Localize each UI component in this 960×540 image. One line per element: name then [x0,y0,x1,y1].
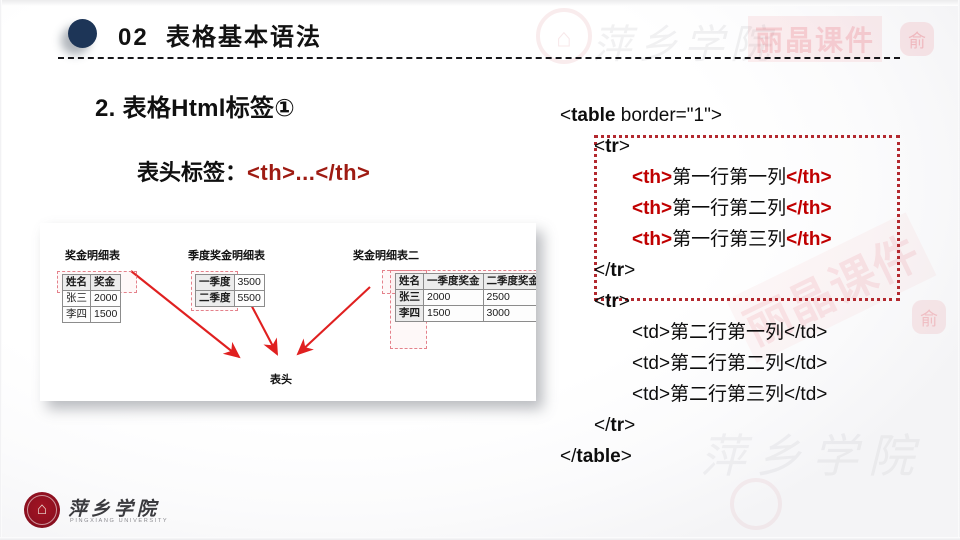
figure-caption-3: 奖金明细表二 [353,247,419,263]
header-divider [58,57,900,59]
code-token: tr [610,260,624,281]
code-line: </table> [560,441,960,472]
table-cell: 3500 [234,275,264,291]
table-cell: 1500 [424,306,484,322]
code-line: <tr> [560,131,960,162]
table-cell: 张三 [63,291,91,307]
table-cell: 奖金 [91,275,121,291]
watermark-red-box-top: 丽晶课件 [748,16,882,62]
code-token: </th> [786,229,831,250]
code-token: <td>第二行第三列</td> [632,384,827,405]
table-cell: 姓名 [396,274,424,290]
code-token: > [624,415,635,436]
table-cell: 2500 [483,290,536,306]
slide-canvas: ⌂ 萍乡学院 丽晶课件 俞 丽晶课件 萍乡学院 俞 02 表格基本语法 2. 表… [0,0,960,540]
code-token: </th> [786,198,831,219]
code-line: </tr> [560,410,960,441]
table-cell: 姓名 [63,275,91,291]
table-row: 姓名 一季度奖金 二季度奖金 [396,274,537,290]
table-cell: 3000 [483,306,536,322]
code-token: </th> [786,167,831,188]
footer-logo: ⌂ 萍乡学院 PINGXIANG UNIVERSITY [24,492,164,530]
code-token: < [594,136,605,157]
table-cell: 一季度 [196,275,235,291]
table-cell: 二季度 [196,291,235,307]
code-token: <td>第二行第二列</td> [632,353,827,374]
code-token: 第一行第三列 [672,229,786,250]
table-cell: 张三 [396,290,424,306]
header-number: 02 [118,24,149,51]
figure-caption-2: 季度奖金明细表 [188,247,265,263]
figure-table-3: 姓名 一季度奖金 二季度奖金 张三 2000 2500 李四 1500 3000 [395,273,536,322]
code-line: <th>第一行第三列</th> [560,224,960,255]
subtitle-line: 表头标签：<th>...</th> [137,155,370,187]
code-token: table [576,446,620,467]
watermark-handwriting-top: 萍乡学院 [592,12,776,70]
code-token: <th> [632,167,672,188]
code-line: <th>第一行第二列</th> [560,193,960,224]
university-seal-icon: ⌂ [24,492,60,528]
table-cell: 李四 [63,307,91,323]
table-row: 二季度 5500 [196,291,265,307]
code-token: < [594,291,605,312]
code-line: </tr> [560,255,960,286]
code-token: </ [594,415,610,436]
page-title: 2. 表格Html标签① [95,88,295,123]
watermark-seal-icon: ⌂ [536,8,592,64]
table-row: 张三 2000 [63,291,121,307]
code-token: table [571,105,615,126]
watermark-badge-top-icon: 俞 [900,22,934,56]
footer-logo-name-cn: 萍乡学院 [68,494,160,521]
code-token: <td>第二行第一列</td> [632,322,827,343]
university-seal-glyph: ⌂ [37,499,47,519]
table-cell: 5500 [234,291,264,307]
table-cell: 2000 [91,291,121,307]
code-token: </ [594,260,610,281]
code-token: < [560,105,571,126]
code-token: <th> [632,229,672,250]
code-token: 第一行第二列 [672,198,786,219]
watermark-seal-mid-icon [730,478,782,530]
code-token: tr [605,136,619,157]
table-cell: 1500 [91,307,121,323]
watermark-seal-glyph: ⌂ [556,22,572,53]
table-cell: 李四 [396,306,424,322]
code-token: > [624,260,635,281]
table-row: 张三 2000 2500 [396,290,537,306]
code-token: tr [610,415,624,436]
header-title-text: 表格基本语法 [166,24,322,51]
header-bullet-icon [68,19,97,48]
code-block: <table border="1"><tr><th>第一行第一列</th><th… [560,100,960,472]
code-line: <td>第二行第三列</td> [560,379,960,410]
figure-table-1: 姓名 奖金 张三 2000 李四 1500 [62,274,121,323]
code-token: border="1"> [615,105,721,126]
figure-caption-1: 奖金明细表 [65,247,120,263]
code-line: <th>第一行第一列</th> [560,162,960,193]
code-token: tr [605,291,619,312]
table-cell: 2000 [424,290,484,306]
subtitle-label: 表头标签： [137,160,247,185]
figure-footer-label: 表头 [270,371,292,387]
table-cell: 一季度奖金 [424,274,484,290]
slide-left-edge [0,0,2,540]
code-line: <td>第二行第一列</td> [560,317,960,348]
code-line: <table border="1"> [560,100,960,131]
table-row: 姓名 奖金 [63,275,121,291]
code-token: </ [560,446,576,467]
code-token: > [619,291,630,312]
header-title: 02 表格基本语法 [118,17,322,52]
code-token: <th> [632,198,672,219]
code-line: <td>第二行第二列</td> [560,348,960,379]
watermark-badge-top-glyph: 俞 [908,27,926,53]
table-cell: 二季度奖金 [483,274,536,290]
code-line: <tr> [560,286,960,317]
table-row: 李四 1500 3000 [396,306,537,322]
code-token: 第一行第一列 [672,167,786,188]
code-token: > [619,136,630,157]
figure-table-2: 一季度 3500 二季度 5500 [195,274,265,307]
subtitle-tag: <th>...</th> [247,160,370,185]
footer-logo-name-en: PINGXIANG UNIVERSITY [70,518,168,524]
code-token: > [621,446,632,467]
table-row: 一季度 3500 [196,275,265,291]
figure-image-panel: 奖金明细表 姓名 奖金 张三 2000 李四 1500 季度奖金明细表 一季度 … [40,223,536,401]
table-row: 李四 1500 [63,307,121,323]
